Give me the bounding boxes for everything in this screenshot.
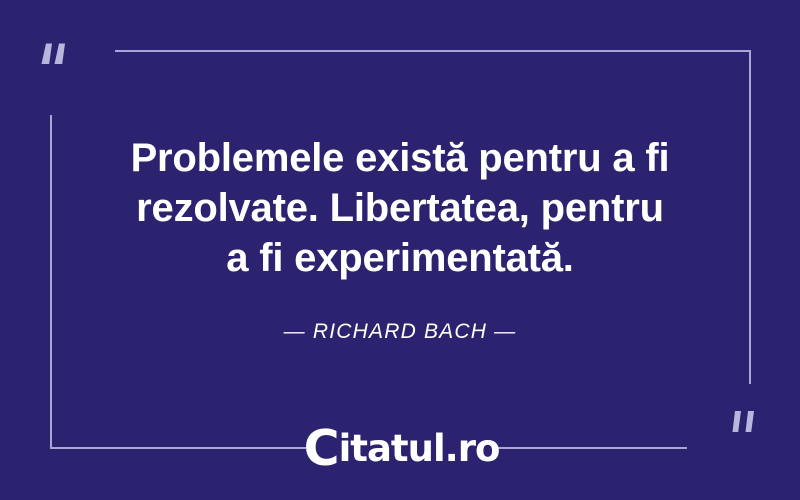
site-logo-rest: itatul.ro: [339, 427, 500, 470]
frame-line-bottom-left: [50, 447, 306, 449]
quote-card: Problemele există pentru a fi rezolvate.…: [0, 0, 800, 500]
quote-text: Problemele există pentru a fi rezolvate.…: [85, 133, 715, 283]
quote-line-3: a fi experimentată.: [85, 233, 715, 283]
open-quote-icon: [38, 42, 72, 72]
quote-author: — RICHARD BACH —: [85, 320, 715, 344]
close-quote-icon: [731, 409, 765, 439]
quote-line-1: Problemele există pentru a fi: [85, 133, 715, 183]
site-logo[interactable]: Citatul.ro: [306, 419, 497, 477]
frame-line-bottom-right: [497, 447, 687, 449]
quote-line-2: rezolvate. Libertatea, pentru: [85, 183, 715, 233]
frame-line-top: [115, 50, 751, 52]
site-logo-text: Citatul.ro: [304, 424, 500, 473]
site-logo-initial: C: [304, 420, 339, 477]
frame-line-right: [749, 50, 751, 384]
frame-line-left: [50, 115, 52, 449]
